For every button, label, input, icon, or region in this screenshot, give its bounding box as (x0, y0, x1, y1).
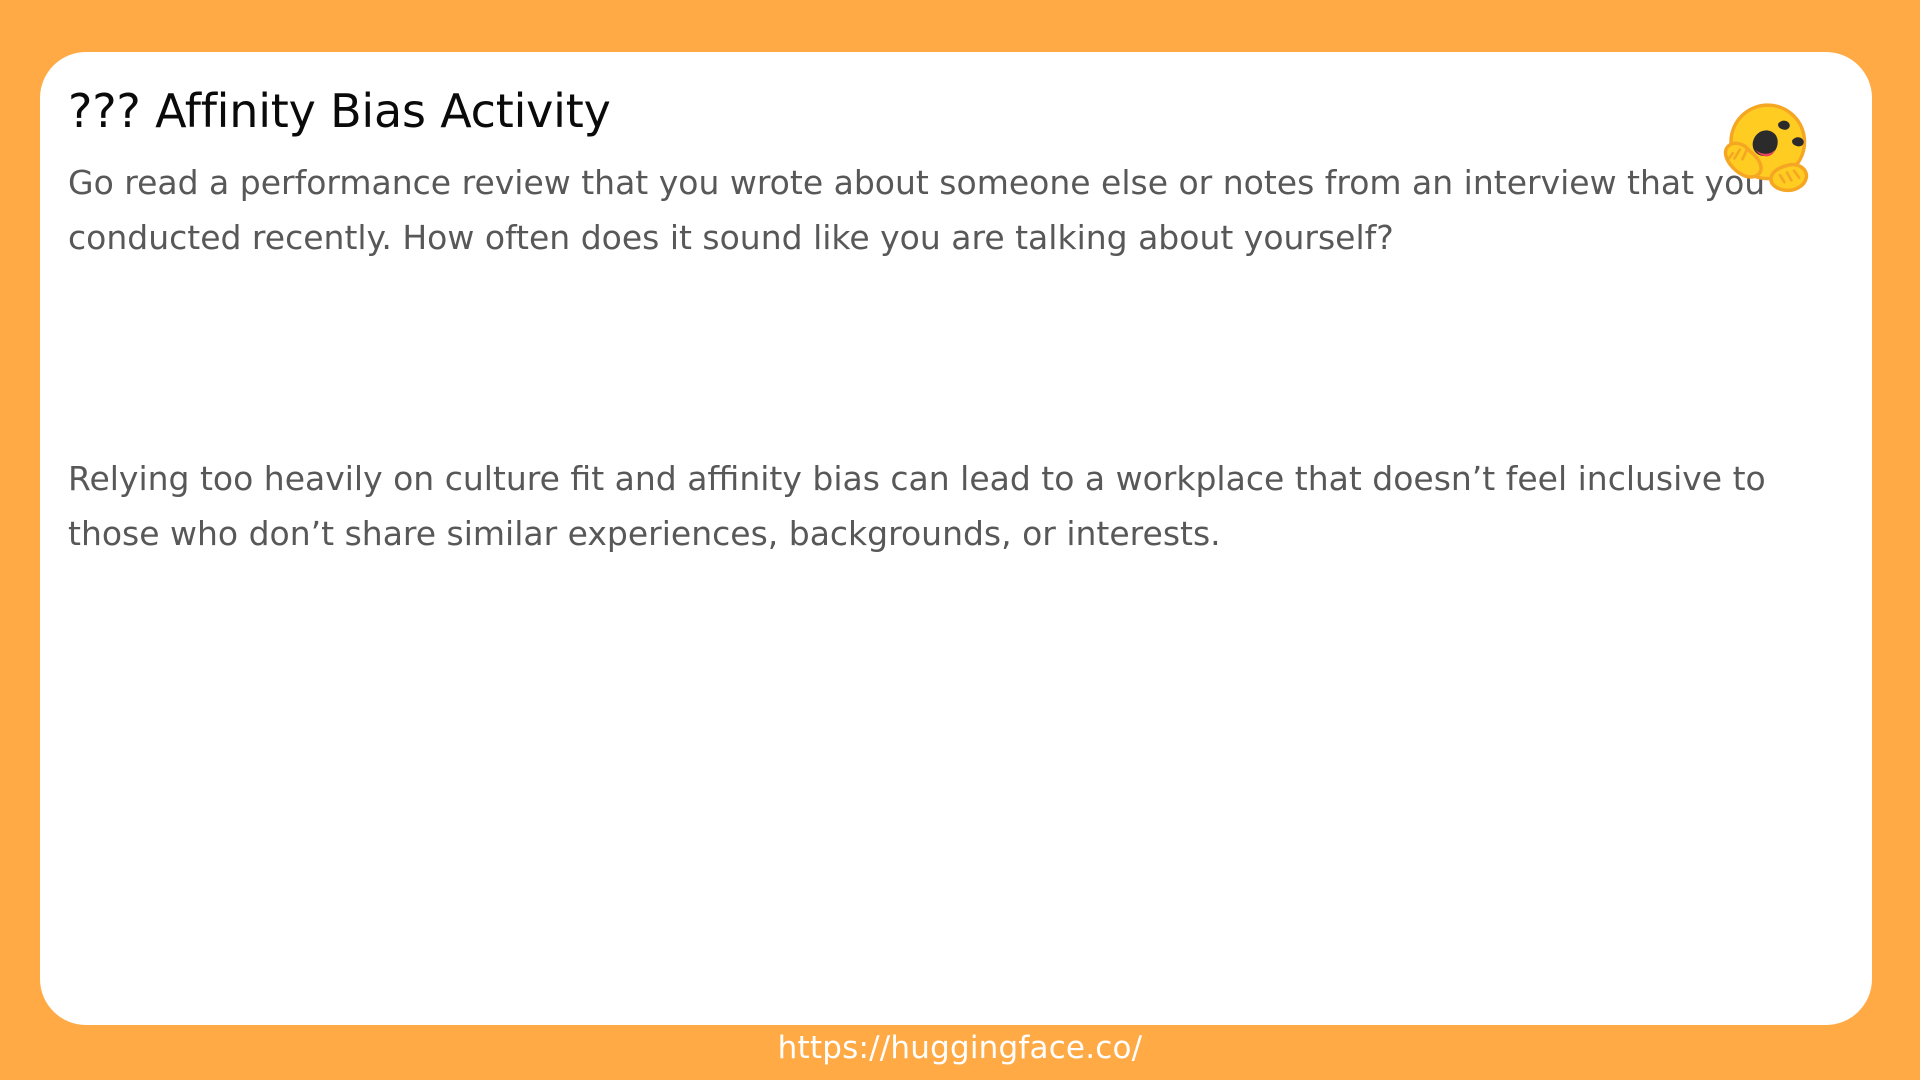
insight-paragraph: Relying too heavily on culture fit and a… (68, 452, 1828, 562)
page-title: ??? Affinity Bias Activity (68, 84, 1844, 138)
content-card: ??? Affinity Bias Activity Go read a per… (40, 52, 1872, 1025)
slide-root: ??? Affinity Bias Activity Go read a per… (0, 0, 1920, 1080)
content-spacer (68, 266, 1844, 452)
hugging-face-emoji (1710, 92, 1822, 204)
footer-url[interactable]: https://huggingface.co/ (0, 1030, 1920, 1066)
card-inner: ??? Affinity Bias Activity Go read a per… (68, 84, 1844, 1005)
activity-prompt-paragraph: Go read a performance review that you wr… (68, 156, 1828, 266)
